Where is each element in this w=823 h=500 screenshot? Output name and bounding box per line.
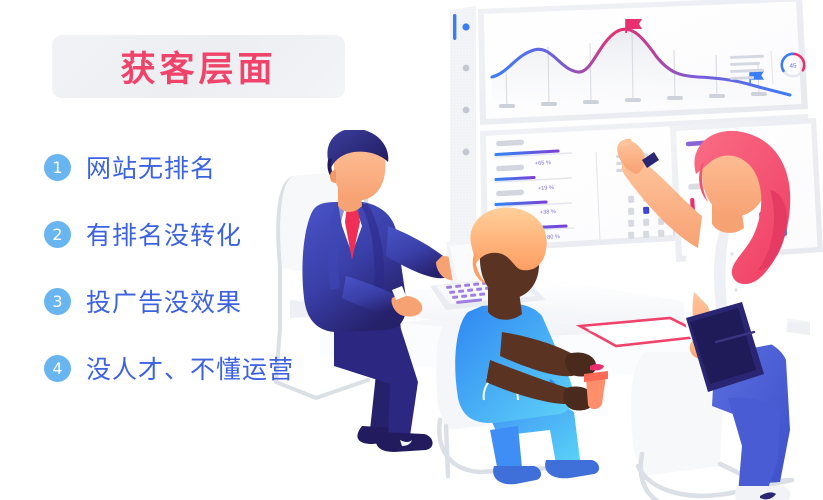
list-item-number: 1 <box>44 154 71 181</box>
illustration-canvas: 45 +65 % <box>0 0 823 500</box>
list-item-number: 2 <box>44 221 71 248</box>
title-plate: 获客层面 <box>52 35 345 98</box>
page-title: 获客层面 <box>120 41 276 92</box>
shoe <box>545 460 599 478</box>
bullet-list: 1 网站无排名 2 有排名没转化 3 投广告没效果 4 没人才、不懂运营 <box>44 152 374 420</box>
list-item[interactable]: 3 投广告没效果 <box>44 286 374 316</box>
line-chart-panel: 45 <box>478 0 808 125</box>
sidebar-dot-1[interactable] <box>462 23 469 30</box>
list-item-number: 3 <box>44 288 71 315</box>
kpi-donut-value: 45 <box>789 62 797 69</box>
sidebar-dot-2[interactable] <box>463 65 470 72</box>
sidebar-dot-3[interactable] <box>463 107 470 114</box>
list-item-label: 网站无排名 <box>86 149 216 185</box>
sidebar-active-indicator <box>453 14 456 40</box>
list-item-number: 4 <box>44 355 71 382</box>
list-item-label: 投广告没效果 <box>86 283 242 319</box>
list-item[interactable]: 4 没人才、不懂运营 <box>44 353 374 383</box>
list-item-label: 没人才、不懂运营 <box>86 350 294 386</box>
list-item[interactable]: 2 有排名没转化 <box>44 219 374 249</box>
shoe <box>493 466 541 484</box>
list-item[interactable]: 1 网站无排名 <box>44 152 374 182</box>
list-item-label: 有排名没转化 <box>86 216 242 252</box>
